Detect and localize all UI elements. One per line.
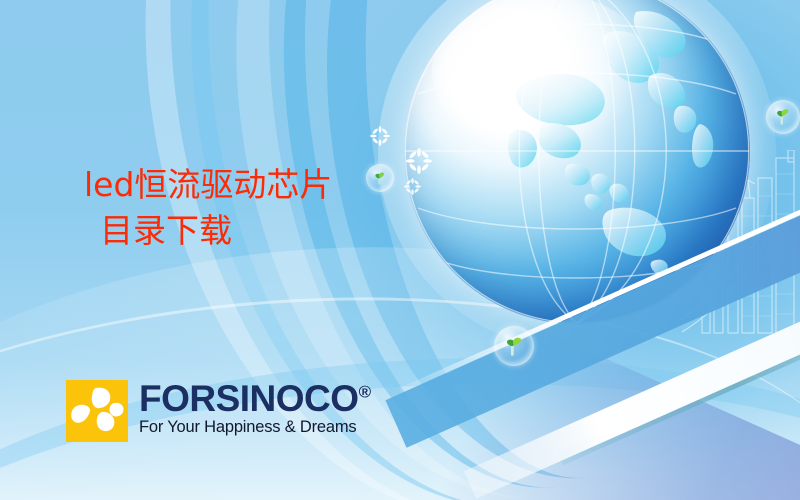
- headline-line-2: 目录下载: [84, 208, 332, 254]
- brand-name: FORSINOCO®: [139, 381, 371, 417]
- violet-diagonal-band: [345, 318, 800, 500]
- flower-sparkle-icon: [370, 126, 390, 146]
- four-petal-icon: [66, 380, 128, 442]
- flower-sparkle-icon: [406, 148, 432, 174]
- slide-canvas: led恒流驱动芯片 目录下载 FORSINOCO® For Your Happi…: [0, 0, 800, 500]
- bubble-icon: [494, 326, 534, 366]
- brand-text-block: FORSINOCO® For Your Happiness & Dreams: [139, 380, 371, 437]
- globe-halo: [378, 0, 776, 350]
- registered-trademark-icon: ®: [359, 383, 372, 402]
- sprout-icon: [372, 170, 388, 186]
- brand-tagline: For Your Happiness & Dreams: [139, 418, 371, 437]
- teal-diagonal-band: [557, 322, 800, 465]
- forsinoco-mark-icon: [66, 380, 128, 442]
- sprout-icon: [503, 335, 525, 357]
- cityscape-icon: [680, 150, 800, 340]
- globe-highlight: [432, 0, 653, 151]
- sprout-icon: [773, 107, 792, 126]
- bubble-icon: [766, 100, 800, 134]
- headline-line-1: led恒流驱动芯片: [84, 165, 332, 204]
- brand-logo: FORSINOCO® For Your Happiness & Dreams: [66, 380, 371, 442]
- flower-sparkle-icon: [404, 178, 421, 195]
- globe-sphere: [404, 0, 750, 324]
- globe-graticule: [404, 0, 750, 324]
- slide-headline: led恒流驱动芯片 目录下载: [84, 162, 332, 254]
- brand-name-text: FORSINOCO: [139, 378, 359, 419]
- white-diagonal-band: [464, 280, 800, 499]
- white-diagonal-line: [399, 177, 800, 393]
- blue-diagonal-band: [385, 181, 800, 448]
- right-blue-wash: [300, 0, 800, 500]
- globe-icon: [404, 0, 750, 324]
- bubble-icon: [366, 164, 394, 192]
- globe-rim: [404, 0, 750, 324]
